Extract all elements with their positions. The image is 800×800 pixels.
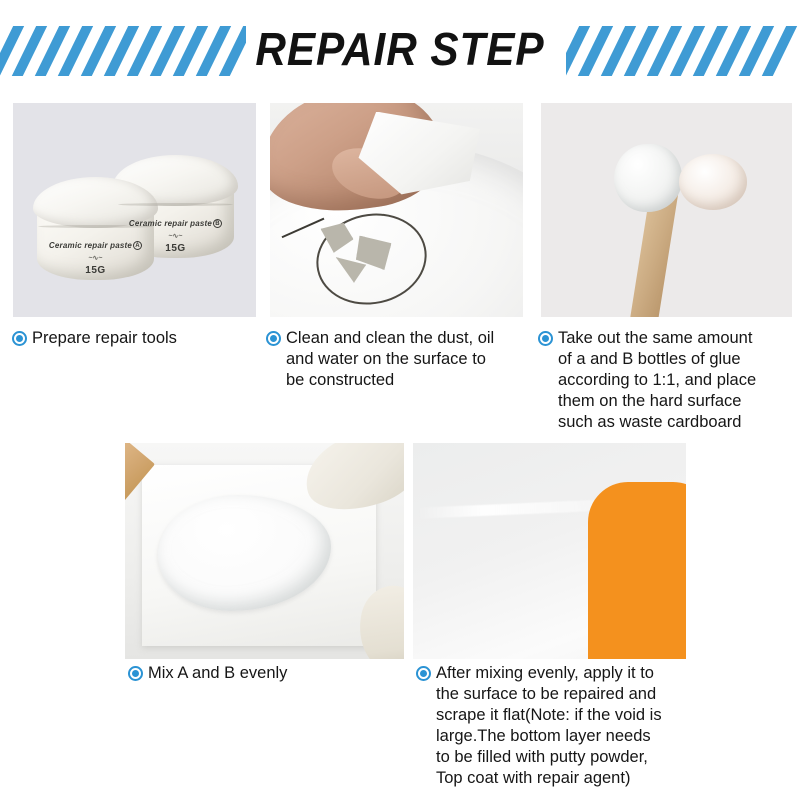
step-1-caption-text: Prepare repair tools (32, 328, 177, 349)
step-3-caption-text: Take out the same amount of a and B bott… (558, 328, 756, 433)
paste-blob-a (614, 144, 682, 212)
photo-scraping-flat (413, 443, 686, 659)
step-2-caption-text: Clean and clean the dust, oil and water … (286, 328, 494, 391)
bullet-icon (416, 666, 431, 681)
orange-scraper (588, 482, 686, 659)
header-banner: REPAIR STEP (0, 0, 800, 96)
step-1-caption: Prepare repair tools (12, 328, 257, 349)
repair-step-infographic: REPAIR STEP Ceramic repair pasteB ~∿~ 15… (0, 0, 800, 800)
jar-a-label: Ceramic repair pasteA (33, 241, 158, 250)
bullet-icon (266, 331, 281, 346)
step-2-caption: Clean and clean the dust, oil and water … (266, 328, 524, 391)
photo-repair-paste-jars: Ceramic repair pasteB ~∿~ 15G Ceramic re… (13, 103, 256, 317)
bullet-icon (538, 331, 553, 346)
paste-blob-b (679, 154, 747, 210)
photo-mixing-paste (125, 443, 404, 659)
jar-b-mark: B (213, 219, 222, 228)
jar-a-logo-icon: ~∿~ (33, 254, 158, 262)
jar-b-label-text: Ceramic repair paste (129, 219, 212, 228)
page-title: REPAIR STEP (32, 22, 768, 76)
jar-a-mark: A (133, 241, 142, 250)
photo-cleaning-surface (270, 103, 523, 317)
photo-measuring-glue (541, 103, 792, 317)
jar-a-size: 15G (33, 265, 158, 276)
bullet-icon (12, 331, 27, 346)
step-3-caption: Take out the same amount of a and B bott… (538, 328, 796, 433)
jar-b-logo-icon: ~∿~ (113, 232, 238, 240)
jar-a-label-text: Ceramic repair paste (49, 241, 132, 250)
step-5-caption-text: After mixing evenly, apply it to the sur… (436, 663, 662, 789)
step-5-caption: After mixing evenly, apply it to the sur… (416, 663, 791, 789)
jar-b-label: Ceramic repair pasteB (113, 219, 238, 228)
step-4-caption-text: Mix A and B evenly (148, 663, 287, 684)
bullet-icon (128, 666, 143, 681)
step-4-caption: Mix A and B evenly (128, 663, 398, 684)
